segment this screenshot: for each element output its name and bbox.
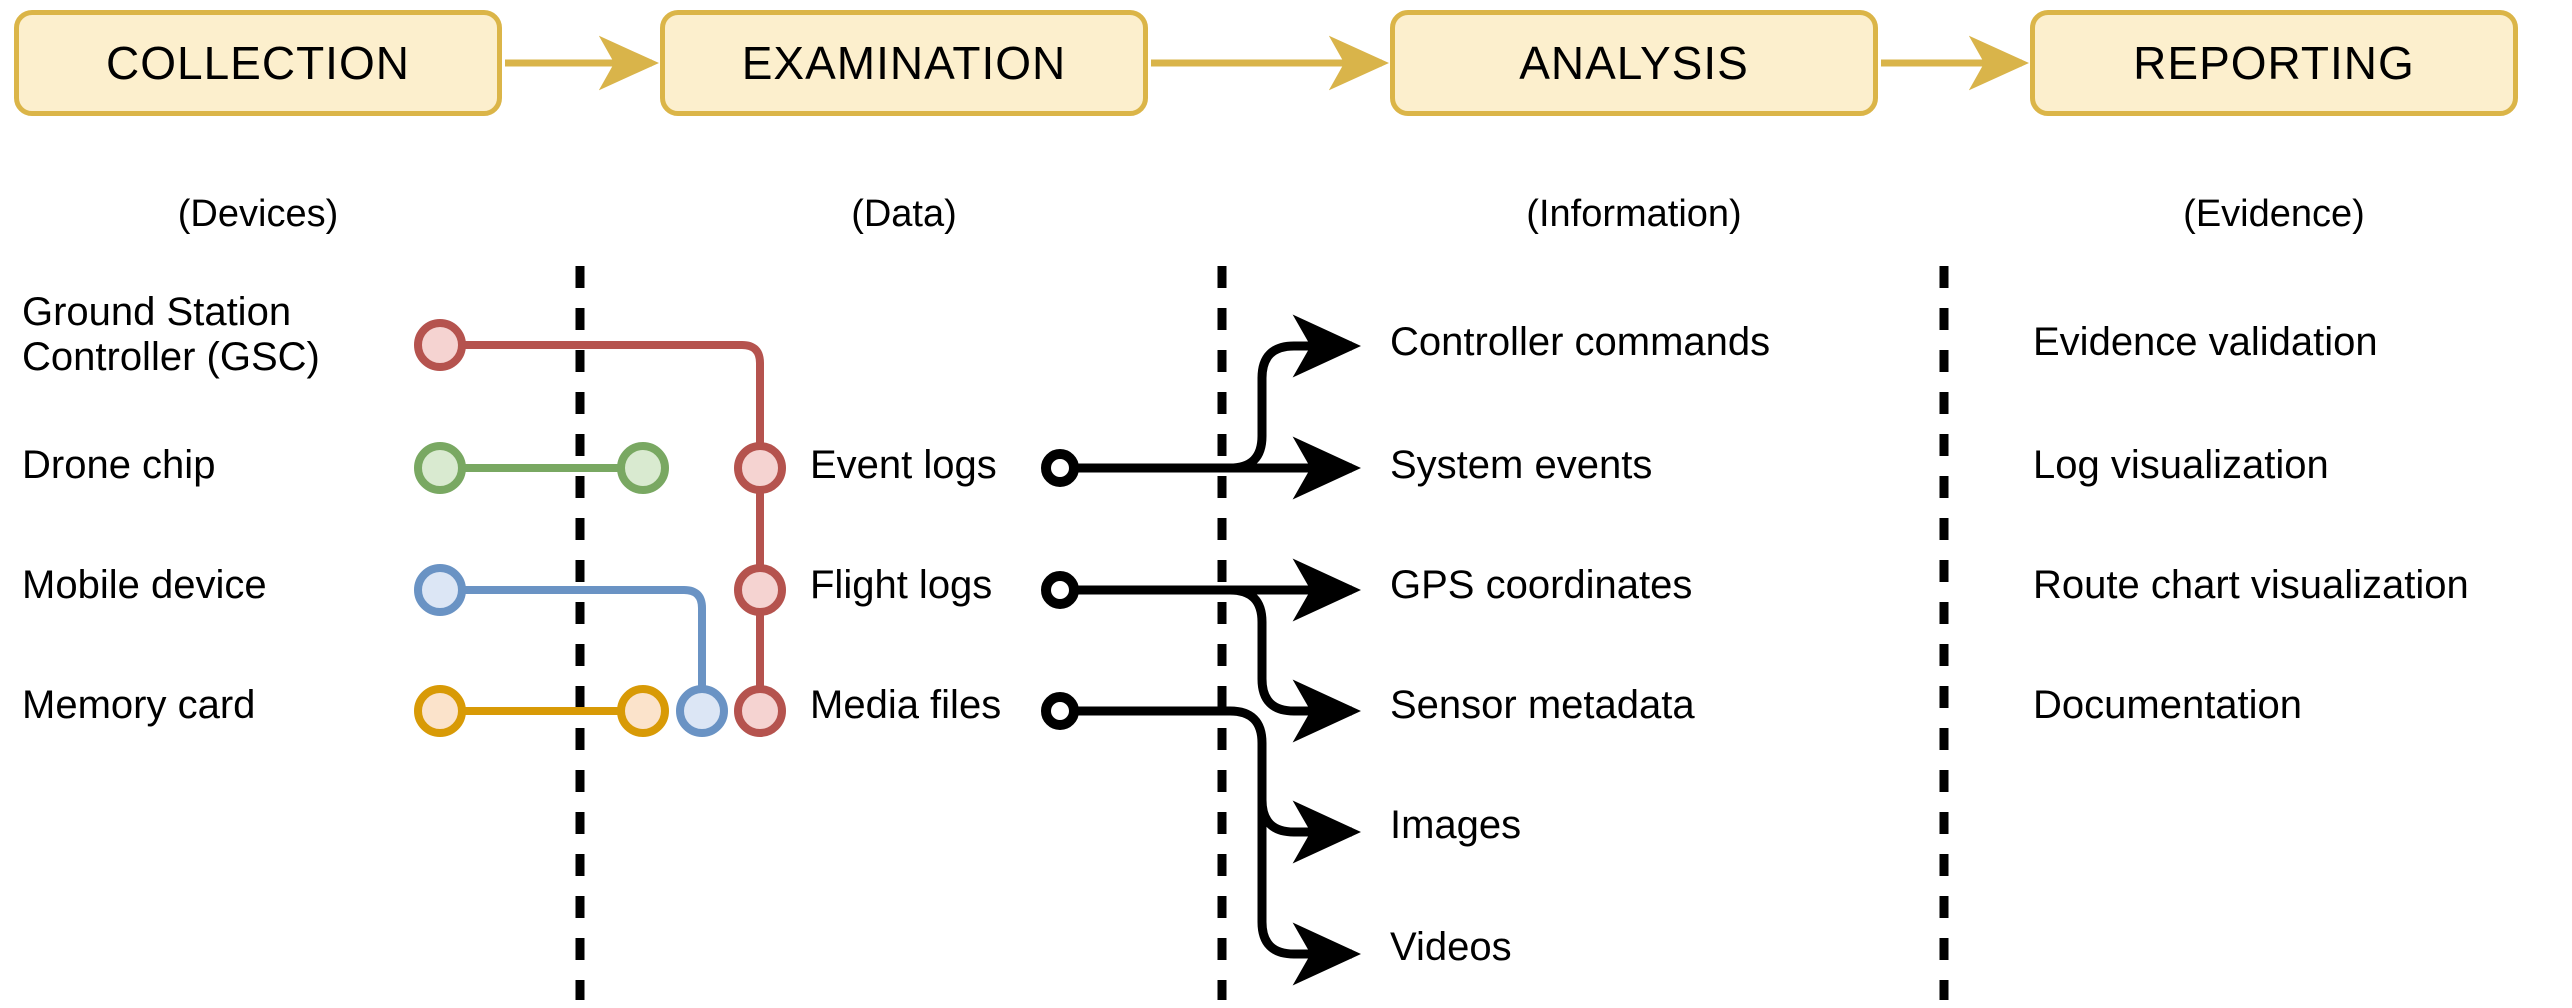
examination-node-media-files-icon[interactable] [1046,697,1074,725]
phase-box-analysis[interactable]: ANALYSIS [1390,10,1878,116]
phase-label-reporting: REPORTING [2133,36,2415,90]
phase-box-collection[interactable]: COLLECTION [14,10,502,116]
connector-graphics-layer [0,0,2572,1008]
connector-endpoint-memory-card[interactable] [621,689,665,733]
analysis-item-label-sensor-metadata: Sensor metadata [1390,683,1695,728]
examination-item-label-event-logs: Event logs [810,443,997,488]
collection-node-mobile-device[interactable] [418,568,462,612]
examination-item-label-media-files: Media files [810,683,1001,728]
examination-node-event-logs-source[interactable] [738,446,782,490]
collection-item-label-drone-chip: Drone chip [22,443,215,488]
collection-node-drone-chip[interactable] [418,446,462,490]
collection-item-label-gsc: Ground Station Controller (GSC) [22,290,320,380]
analysis-item-label-controller-commands: Controller commands [1390,320,1770,365]
collection-node-memory-card[interactable] [418,689,462,733]
connector-media-files-to-images [1078,711,1352,832]
connector-mobile-device [440,590,702,711]
connector-event-logs-to-controller-commands [1230,346,1352,468]
reporting-item-label-log-visualization: Log visualization [2033,443,2329,488]
collection-item-label-mobile-device: Mobile device [22,563,267,608]
phase-box-examination[interactable]: EXAMINATION [660,10,1148,116]
analysis-item-label-videos: Videos [1390,925,1512,970]
connector-endpoint-mobile-device[interactable] [680,689,724,733]
connector-media-files-to-videos [1262,743,1352,954]
examination-node-media-files-source[interactable] [738,689,782,733]
connector-gsc-to-event-logs [440,345,760,711]
examination-node-flight-logs-source[interactable] [738,568,782,612]
phase-subtitle-examination: (Data) [660,193,1148,236]
collection-item-label-memory-card: Memory card [22,683,255,728]
phase-subtitle-analysis: (Information) [1390,193,1878,236]
analysis-item-label-system-events: System events [1390,443,1652,488]
reporting-item-label-route-chart-visualization: Route chart visualization [2033,563,2469,608]
reporting-item-label-evidence-validation: Evidence validation [2033,320,2378,365]
phase-box-reporting[interactable]: REPORTING [2030,10,2518,116]
connector-flight-logs-to-sensor-metadata [1230,590,1352,711]
phase-subtitle-reporting: (Evidence) [2030,193,2518,236]
phase-subtitle-collection: (Devices) [14,193,502,236]
phase-label-collection: COLLECTION [106,36,410,90]
analysis-item-label-gps-coordinates: GPS coordinates [1390,563,1692,608]
phase-label-examination: EXAMINATION [742,36,1067,90]
connector-endpoint-drone-chip[interactable] [621,446,665,490]
analysis-item-label-images: Images [1390,803,1521,848]
examination-node-event-logs-icon[interactable] [1046,454,1074,482]
examination-node-flight-logs-icon[interactable] [1046,576,1074,604]
diagram-canvas: COLLECTION EXAMINATION ANALYSIS REPORTIN… [0,0,2572,1008]
phase-label-analysis: ANALYSIS [1519,36,1749,90]
examination-item-label-flight-logs: Flight logs [810,563,992,608]
reporting-item-label-documentation: Documentation [2033,683,2302,728]
collection-node-gsc[interactable] [418,323,462,367]
